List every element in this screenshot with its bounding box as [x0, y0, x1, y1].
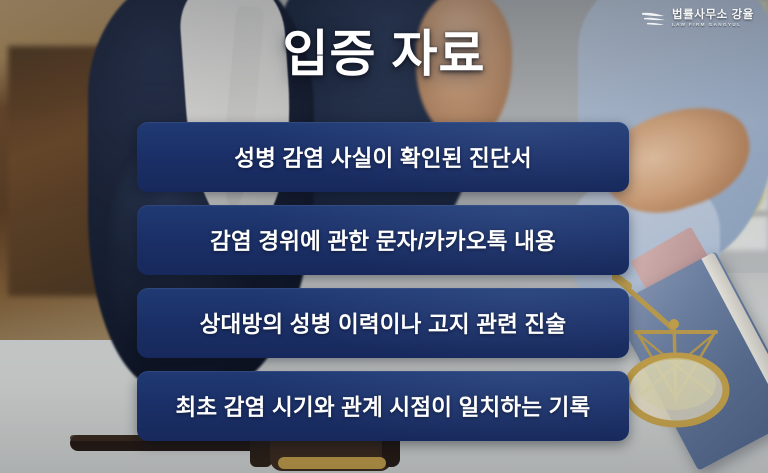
page-title: 입증 자료: [0, 21, 768, 87]
evidence-list: 성병 감염 사실이 확인된 진단서 감염 경위에 관한 문자/카카오톡 내용 상…: [137, 122, 629, 441]
list-item-label: 성병 감염 사실이 확인된 진단서: [234, 141, 532, 173]
logo-firm-name: 법률사무소 강율: [672, 9, 754, 21]
list-item[interactable]: 감염 경위에 관한 문자/카카오톡 내용: [137, 205, 629, 275]
poster-canvas: 법률사무소 강율 LAW FIRM GANGYUL 입증 자료 성병 감염 사실…: [0, 0, 768, 473]
list-item-label: 최초 감염 시기와 관계 시점이 일치하는 기록: [176, 390, 591, 422]
list-item-label: 감염 경위에 관한 문자/카카오톡 내용: [210, 224, 556, 256]
list-item-label: 상대방의 성병 이력이나 고지 관련 진술: [200, 307, 567, 339]
list-item[interactable]: 성병 감염 사실이 확인된 진단서: [137, 122, 629, 192]
list-item[interactable]: 상대방의 성병 이력이나 고지 관련 진술: [137, 288, 629, 358]
list-item[interactable]: 최초 감염 시기와 관계 시점이 일치하는 기록: [137, 371, 629, 441]
